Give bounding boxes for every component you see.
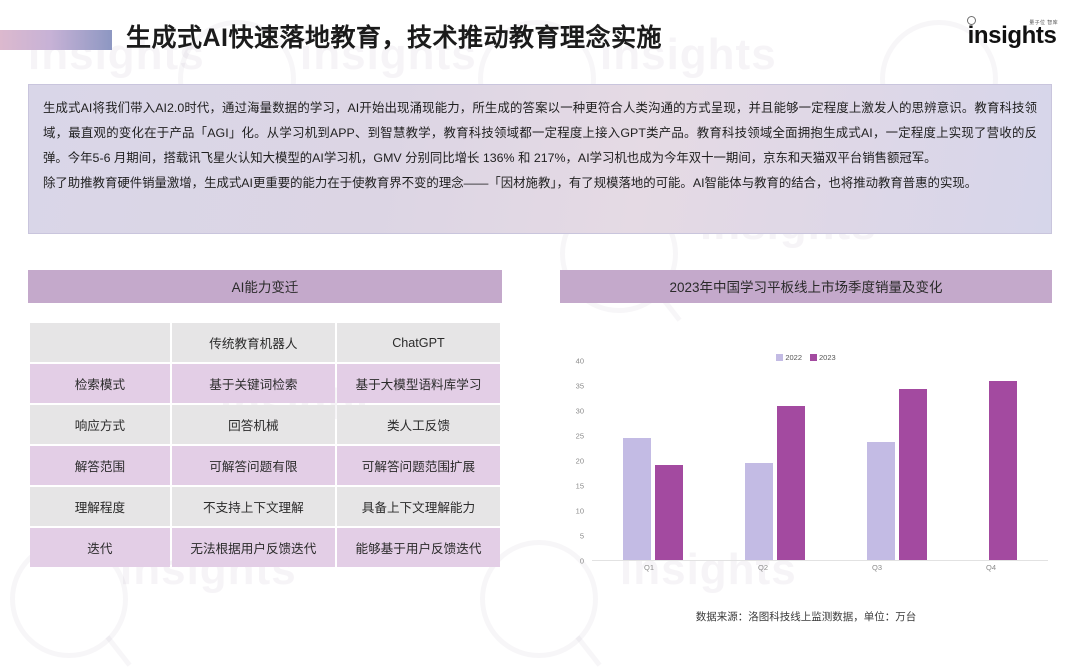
bar-groups [592, 361, 1048, 561]
x-axis-labels: Q1Q2Q3Q4 [592, 563, 1048, 572]
table-row: 检索模式 基于关键词检索 基于大模型语料库学习 [30, 364, 500, 403]
y-axis-tick: 0 [580, 557, 584, 566]
logo-circle-icon [967, 16, 976, 25]
legend-swatch-icon [810, 354, 817, 361]
chart-source-note: 数据来源：洛图科技线上监测数据，单位：万台 [560, 609, 1052, 624]
bar-group [867, 361, 927, 560]
bar-group [989, 361, 1017, 560]
bar-2022-Q2 [745, 463, 773, 560]
y-axis-tick: 30 [576, 407, 584, 416]
page-title: 生成式AI快速落地教育，技术推动教育理念实施 [126, 18, 662, 54]
table-header-cell-blank [30, 323, 170, 362]
row-value-chatgpt: 类人工反馈 [337, 405, 500, 444]
title-accent-bar [0, 30, 112, 50]
bar-2023-Q4 [989, 381, 1017, 560]
row-value-chatgpt: 具备上下文理解能力 [337, 487, 500, 526]
y-axis-tick: 20 [576, 457, 584, 466]
row-label: 理解程度 [30, 487, 170, 526]
y-axis-tick: 40 [576, 357, 584, 366]
bar-group [745, 361, 805, 560]
table-row: 理解程度 不支持上下文理解 具备上下文理解能力 [30, 487, 500, 526]
table-header-row: 传统教育机器人 ChatGPT [30, 323, 500, 362]
x-axis-tick: Q3 [872, 563, 882, 572]
row-label: 迭代 [30, 528, 170, 567]
row-value-chatgpt: 基于大模型语料库学习 [337, 364, 500, 403]
sales-chart-panel: 2023年中国学习平板线上市场季度销量及变化 20222023 05101520… [560, 270, 1052, 624]
x-axis-tick: Q2 [758, 563, 768, 572]
bar-group [623, 361, 683, 560]
logo-superscript: 量子位 智库 [1029, 19, 1058, 26]
bar-2023-Q2 [777, 406, 805, 560]
y-axis: 0510152025303540 [560, 361, 588, 561]
table-header-cell-robot: 传统教育机器人 [172, 323, 335, 362]
table-header-cell-chatgpt: ChatGPT [337, 323, 500, 362]
intro-paragraph-2: 除了助推教育硬件销量激增，生成式AI更重要的能力在于使教育界不变的理念——「因材… [43, 171, 1037, 196]
intro-paragraph-1: 生成式AI将我们带入AI2.0时代，通过海量数据的学习，AI开始出现涌现能力，所… [43, 96, 1037, 171]
legend-swatch-icon [776, 354, 783, 361]
ai-capability-table: 传统教育机器人 ChatGPT 检索模式 基于关键词检索 基于大模型语料库学习 … [28, 321, 502, 569]
ai-capability-panel: AI能力变迁 传统教育机器人 ChatGPT 检索模式 基于关键词检索 基于大模… [28, 270, 502, 569]
table-row: 响应方式 回答机械 类人工反馈 [30, 405, 500, 444]
row-value-robot: 不支持上下文理解 [172, 487, 335, 526]
logo-wordmark: insights [958, 22, 1066, 50]
y-axis-tick: 25 [576, 432, 584, 441]
x-axis-tick: Q1 [644, 563, 654, 572]
row-label: 响应方式 [30, 405, 170, 444]
x-axis-tick: Q4 [986, 563, 996, 572]
y-axis-tick: 35 [576, 382, 584, 391]
row-label: 检索模式 [30, 364, 170, 403]
row-value-chatgpt: 可解答问题范围扩展 [337, 446, 500, 485]
bar-2023-Q1 [655, 465, 683, 560]
brand-logo: 量子位 智库 insights [958, 22, 1066, 50]
row-value-robot: 基于关键词检索 [172, 364, 335, 403]
chart-plot-area: 0510152025303540 [560, 361, 1052, 561]
row-value-robot: 无法根据用户反馈迭代 [172, 528, 335, 567]
row-label: 解答范围 [30, 446, 170, 485]
right-section-title: 2023年中国学习平板线上市场季度销量及变化 [560, 270, 1052, 303]
table-row: 迭代 无法根据用户反馈迭代 能够基于用户反馈迭代 [30, 528, 500, 567]
table-row: 解答范围 可解答问题有限 可解答问题范围扩展 [30, 446, 500, 485]
left-section-title: AI能力变迁 [28, 270, 502, 303]
bar-chart: 20222023 0510152025303540 Q1Q2Q3Q4 [560, 317, 1052, 579]
row-value-robot: 可解答问题有限 [172, 446, 335, 485]
row-value-chatgpt: 能够基于用户反馈迭代 [337, 528, 500, 567]
y-axis-tick: 10 [576, 507, 584, 516]
bar-2023-Q3 [899, 389, 927, 560]
bar-2022-Q3 [867, 442, 895, 560]
bar-2022-Q1 [623, 438, 651, 560]
y-axis-tick: 5 [580, 532, 584, 541]
y-axis-tick: 15 [576, 482, 584, 491]
row-value-robot: 回答机械 [172, 405, 335, 444]
page-header: 生成式AI快速落地教育，技术推动教育理念实施 量子位 智库 insights [0, 0, 1080, 74]
intro-panel: 生成式AI将我们带入AI2.0时代，通过海量数据的学习，AI开始出现涌现能力，所… [28, 84, 1052, 234]
